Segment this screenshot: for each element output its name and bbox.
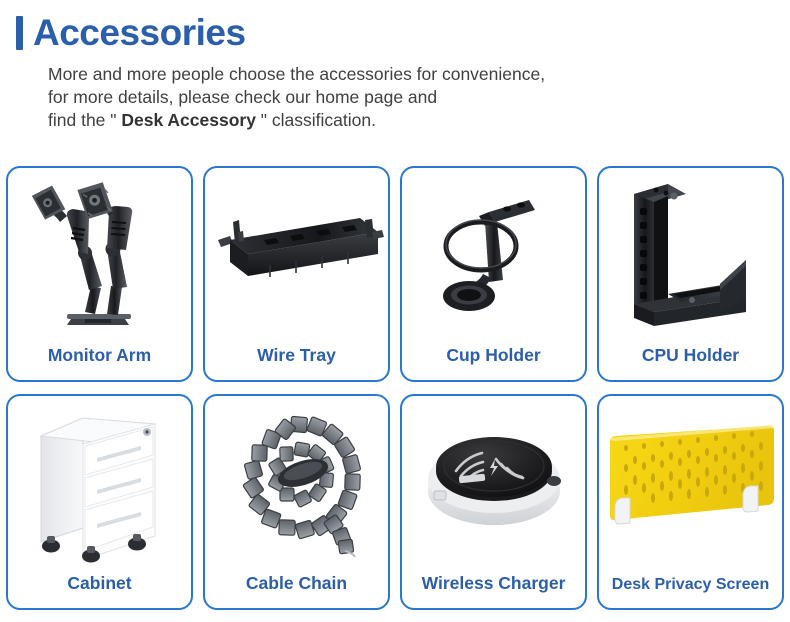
- product-card-cup-holder[interactable]: Cup Holder: [400, 166, 587, 382]
- product-card-desk-privacy-screen[interactable]: Desk Privacy Screen: [597, 394, 784, 610]
- product-label: Wire Tray: [257, 345, 336, 380]
- product-card-cabinet[interactable]: Cabinet: [6, 394, 193, 610]
- intro-line-3-pre: find the ": [48, 110, 121, 130]
- product-card-cpu-holder[interactable]: CPU Holder: [597, 166, 784, 382]
- intro-line-2: for more details, please check our home …: [48, 86, 790, 109]
- intro-highlight-term: Desk Accessory: [121, 110, 256, 130]
- product-label: Cup Holder: [446, 345, 540, 380]
- cup-holder-image: [402, 172, 585, 340]
- wireless-charger-image: [402, 400, 585, 568]
- cpu-holder-image: [599, 172, 782, 340]
- page-title: Accessories: [33, 14, 246, 51]
- product-card-cable-chain[interactable]: Cable Chain: [203, 394, 390, 610]
- intro-paragraph: More and more people choose the accessor…: [48, 63, 790, 132]
- product-label: Cable Chain: [246, 573, 347, 608]
- page-header: Accessories More and more people choose …: [0, 0, 790, 132]
- title-row: Accessories: [16, 14, 790, 51]
- product-grid: Monitor Arm: [6, 166, 784, 610]
- wire-tray-image: [205, 172, 388, 340]
- desk-privacy-screen-image: [599, 400, 782, 568]
- cable-chain-image: [205, 400, 388, 568]
- intro-line-3-post: " classification.: [256, 110, 376, 130]
- product-label: Cabinet: [67, 573, 131, 608]
- product-card-wire-tray[interactable]: Wire Tray: [203, 166, 390, 382]
- product-label: CPU Holder: [642, 345, 739, 380]
- intro-line-3: find the " Desk Accessory " classificati…: [48, 109, 790, 132]
- product-label: Desk Privacy Screen: [612, 576, 769, 608]
- product-card-wireless-charger[interactable]: Wireless Charger: [400, 394, 587, 610]
- title-accent-bar: [16, 16, 23, 50]
- product-card-monitor-arm[interactable]: Monitor Arm: [6, 166, 193, 382]
- intro-line-1: More and more people choose the accessor…: [48, 63, 790, 86]
- cabinet-image: [8, 400, 191, 568]
- product-label: Wireless Charger: [422, 573, 566, 608]
- monitor-arm-image: [8, 172, 191, 340]
- product-label: Monitor Arm: [48, 345, 151, 380]
